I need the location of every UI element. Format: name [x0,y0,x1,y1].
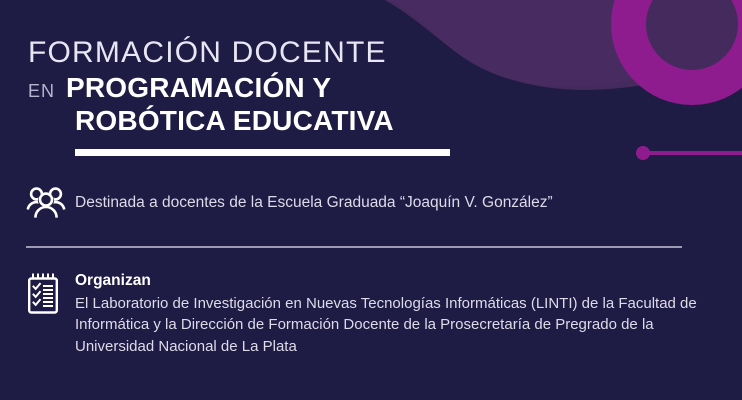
poster-canvas: FORMACIÓN DOCENTE EN PROGRAMACIÓN Y ROBÓ… [0,0,742,400]
group-people-icon [26,184,66,219]
audience-row: Destinada a docentes de la Escuela Gradu… [26,184,553,219]
accent-line [642,151,742,155]
section-divider [26,246,682,248]
title-underline-bar [75,149,450,156]
title-line-2-row: EN PROGRAMACIÓN Y [28,72,668,103]
organizers-row: Organizan El Laboratorio de Investigació… [26,271,705,357]
clipboard-checklist-icon [26,271,66,314]
organizers-title: Organizan [75,271,705,291]
title-line-3: ROBÓTICA EDUCATIVA [75,105,668,136]
title-line-2: PROGRAMACIÓN Y [66,72,331,103]
organizers-text: El Laboratorio de Investigación en Nueva… [75,293,705,357]
title-block: FORMACIÓN DOCENTE EN PROGRAMACIÓN Y ROBÓ… [28,36,668,136]
audience-text: Destinada a docentes de la Escuela Gradu… [75,184,553,213]
title-prefix-en: EN [28,81,55,102]
group-people-icon-glyph [26,185,66,219]
title-line-1: FORMACIÓN DOCENTE [28,36,668,70]
organizers-body: Organizan El Laboratorio de Investigació… [75,271,705,357]
audience-body: Destinada a docentes de la Escuela Gradu… [75,184,553,213]
clipboard-checklist-icon-glyph [26,272,60,314]
accent-line-dot [636,146,650,160]
